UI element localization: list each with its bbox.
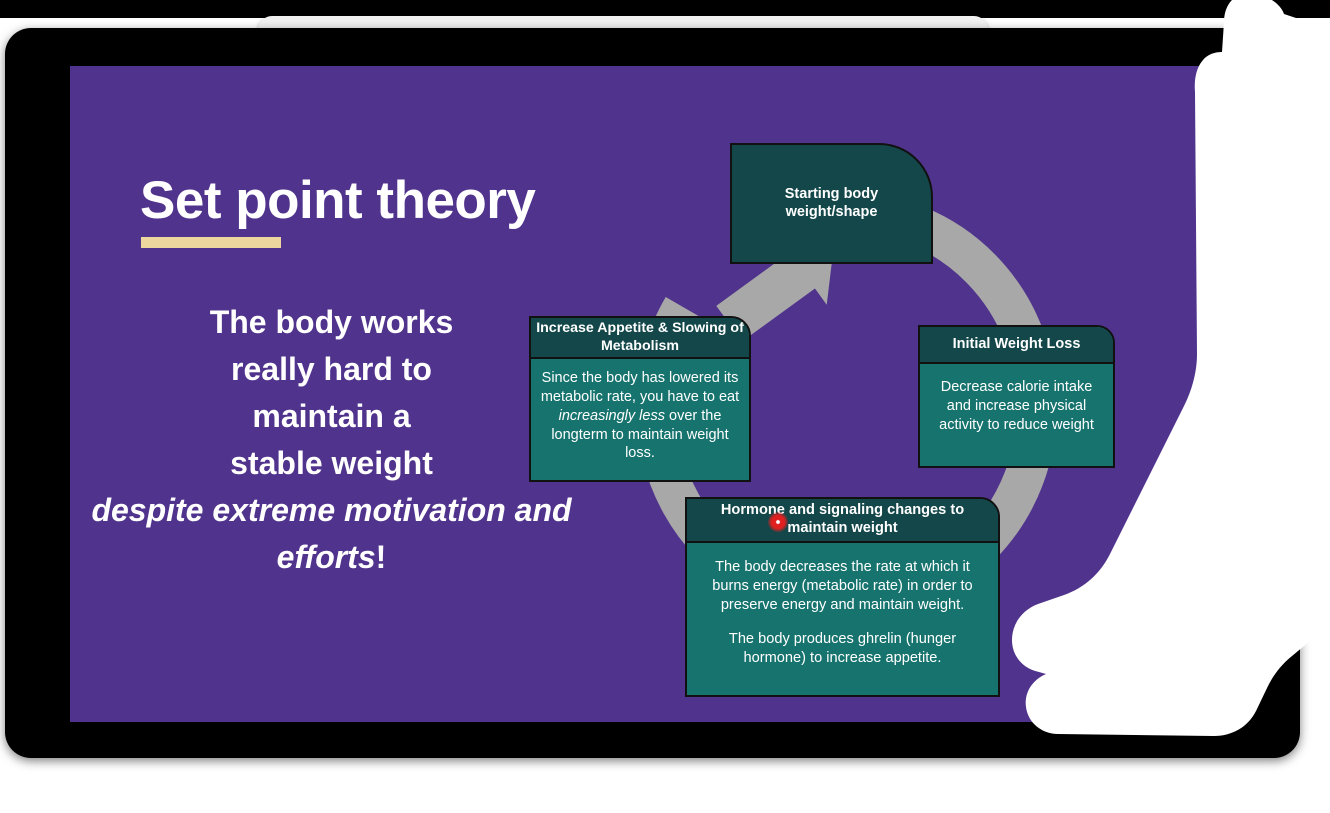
diagram-node-initial-weight-loss[interactable]: Initial Weight Loss Decrease calorie int… (918, 325, 1115, 468)
node-title-increase-appetite: Increase Appetite & Slowing of Metabolis… (531, 318, 749, 359)
node-title-starting-body-weight: Starting body weight/shape (732, 186, 931, 221)
node-title-hormone-signaling-changes: Hormone and signaling changes to maintai… (687, 499, 998, 543)
lead-line-2: really hard to (231, 351, 432, 387)
diagram-node-hormone-signaling-changes[interactable]: Hormone and signaling changes to maintai… (685, 497, 1000, 697)
lead-line-3: maintain a (252, 398, 410, 434)
slide-title: Set point theory (140, 170, 535, 231)
node-body-text: Decrease calorie intake and increase phy… (929, 378, 1104, 435)
screenshot-stage: Set point theory The body works really h… (0, 0, 1330, 813)
node-body-hormone-signaling-changes: The body decreases the rate at which it … (687, 543, 998, 668)
title-underline-accent (141, 237, 281, 248)
lead-exclamation: ! (376, 539, 387, 575)
node-body-text-pre: Since the body has lowered its metabolic… (541, 370, 739, 405)
node-body-increase-appetite: Since the body has lowered its metabolic… (531, 359, 749, 463)
lead-emphasis: despite extreme motivation and efforts (91, 492, 571, 575)
node-body-initial-weight-loss: Decrease calorie intake and increase phy… (920, 364, 1113, 435)
node-body-paragraph-1: The body decreases the rate at which it … (701, 558, 984, 615)
node-title-initial-weight-loss: Initial Weight Loss (920, 327, 1113, 364)
node-body-text: Since the body has lowered its metabolic… (539, 369, 741, 463)
node-body-emphasis: increasingly less (559, 408, 665, 424)
diagram-node-increase-appetite[interactable]: Increase Appetite & Slowing of Metabolis… (529, 316, 751, 482)
diagram-node-starting-body-weight[interactable]: Starting body weight/shape (730, 143, 933, 264)
presentation-slide: Set point theory The body works really h… (70, 66, 1230, 722)
slide-lead-paragraph: The body works really hard to maintain a… (90, 299, 573, 581)
lead-line-1: The body works (210, 304, 454, 340)
lead-line-4: stable weight (230, 445, 433, 481)
node-body-paragraph-2: The body produces ghrelin (hunger hormon… (701, 630, 984, 668)
